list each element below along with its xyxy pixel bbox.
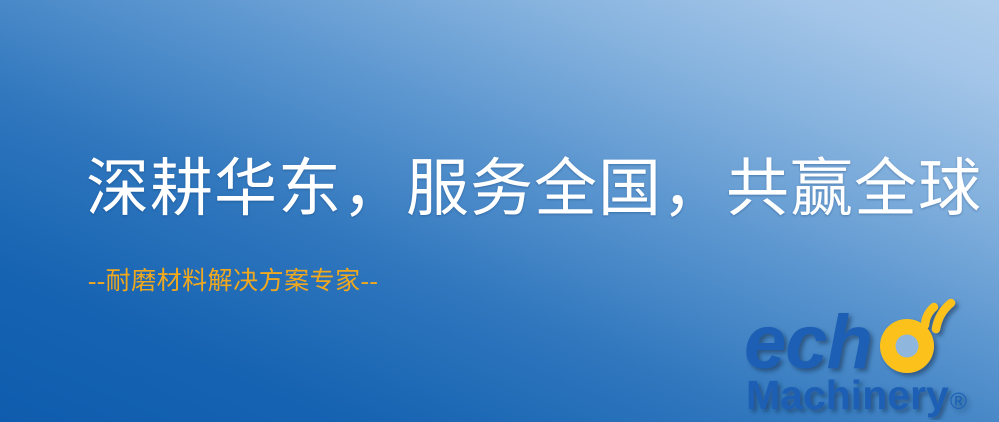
echo-machinery-logo: ech Machinery ® — [744, 296, 994, 420]
logo-signal-arcs — [925, 303, 951, 329]
logo-text-machinery: Machinery — [746, 372, 949, 418]
banner-headline: 深耕华东，服务全国，共赢全球 — [86, 152, 982, 226]
logo-registered-mark: ® — [950, 388, 967, 414]
logo-tagline-group: Machinery ® — [746, 372, 967, 418]
banner-subtitle: --耐磨材料解决方案专家-- — [88, 266, 378, 298]
promo-banner: 深耕华东，服务全国，共赢全球 --耐磨材料解决方案专家-- ech — [0, 0, 999, 422]
